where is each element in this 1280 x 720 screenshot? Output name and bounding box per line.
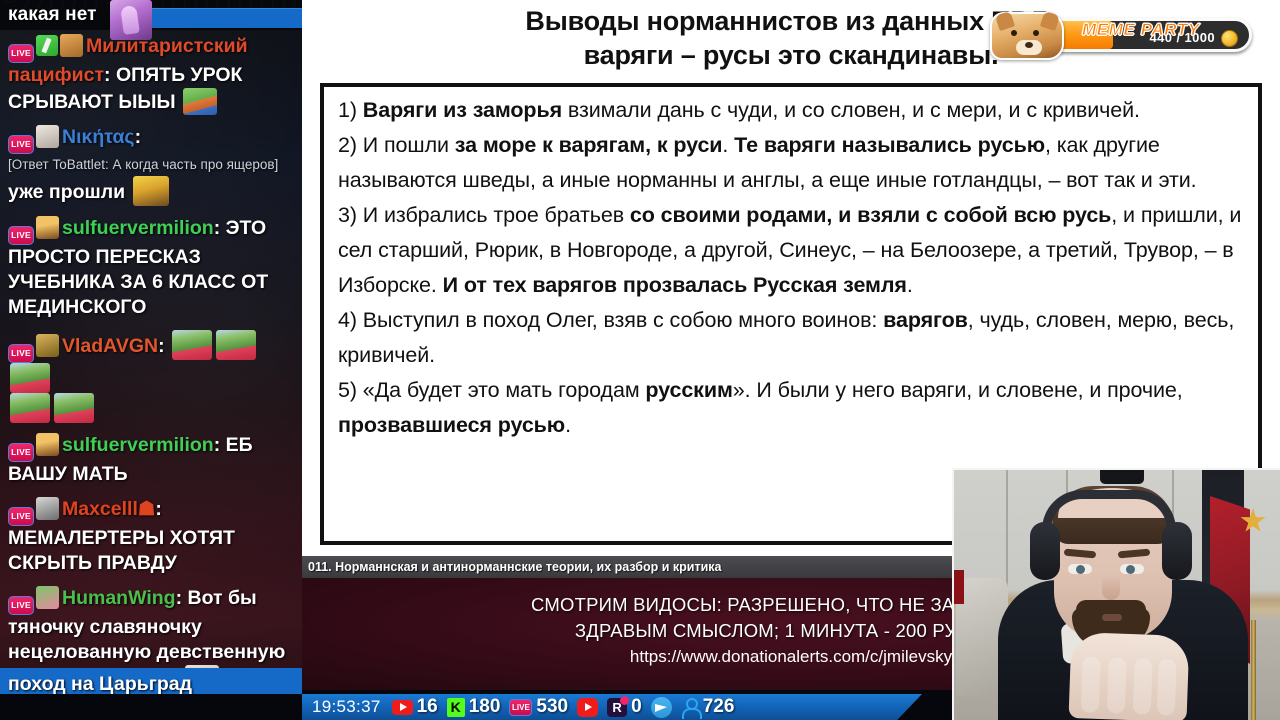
- face-avatar: [36, 125, 59, 148]
- slide-text-bold: Те варяги назывались русью: [734, 133, 1045, 157]
- finger: [1107, 657, 1127, 714]
- live-badge-icon: LIVE: [8, 443, 34, 462]
- red-object: [954, 570, 964, 604]
- chat-partial-bottom-message: поход на Царьград: [8, 673, 192, 696]
- slide-text-bold: Варяги из заморья: [363, 98, 562, 122]
- slide-title-line2: варяги – русы это скандинавы.: [584, 40, 999, 70]
- status-bar-inner: 19:53:37 16 K 180 LIVE 530 R 0: [302, 694, 922, 720]
- chat-colon: :: [104, 64, 111, 86]
- finger: [1133, 658, 1153, 715]
- turtle-emote-icon: [172, 330, 212, 360]
- burger-avatar: [36, 433, 59, 456]
- slide-text-normal: 5) «Да будет это мать городам: [338, 378, 645, 402]
- chat-panel[interactable]: какая нет LIVEМилитаристский пацифист: О…: [0, 0, 302, 720]
- king-avatar: [36, 334, 59, 357]
- chat-username[interactable]: sulfuervermilion: [62, 434, 214, 456]
- chat-message-list[interactable]: LIVEМилитаристский пацифист: ОПЯТЬ УРОК …: [0, 30, 302, 702]
- live-badge-icon: LIVE: [8, 507, 34, 526]
- stat-live: LIVE 530: [509, 696, 568, 718]
- doge-avatar: [60, 34, 83, 57]
- chat-partial-top-message: какая нет: [8, 4, 97, 26]
- live-badge-icon: LIVE: [8, 135, 34, 154]
- slide-text-normal: .: [565, 413, 571, 437]
- meme-party-label: MEME PARTY: [1082, 20, 1200, 40]
- youtube-icon: [392, 700, 413, 715]
- stat-telegram: [651, 697, 672, 718]
- slide-paragraph-2: 2) И пошли за море к варягам, к руси. Те…: [338, 128, 1244, 198]
- streamer-pupil-left: [1076, 565, 1085, 574]
- youtube-rounded-icon: [577, 698, 598, 717]
- stat-value: 530: [536, 696, 568, 718]
- stat-value: 726: [703, 696, 735, 718]
- burger-avatar: [36, 216, 59, 239]
- doge-eye-left: [1011, 30, 1017, 36]
- live-badge-icon: LIVE: [8, 226, 34, 245]
- stat-value: 180: [469, 696, 501, 718]
- streamer-nose: [1102, 576, 1120, 600]
- headphone-cup-left: [1030, 522, 1060, 580]
- chat-username[interactable]: Νικήτας: [62, 126, 135, 148]
- streamer-hands: [1069, 632, 1190, 720]
- live-badge-icon: LIVE: [8, 44, 34, 63]
- turtle-emote-icon: [216, 330, 256, 360]
- streamer-mouth: [1102, 614, 1122, 621]
- slide-text-normal: 2) И пошли: [338, 133, 455, 157]
- slide-paragraph-4: 4) Выступил в поход Олег, взяв с собою м…: [338, 303, 1244, 373]
- chat-colon: :: [214, 217, 221, 239]
- pepe-emote-icon: [183, 88, 217, 115]
- slide-text-bold: варягов: [883, 308, 968, 332]
- chat-message[interactable]: LIVEsulfuervermilion: ЕБ ВАШУ МАТЬ: [8, 433, 294, 487]
- slide-paragraph-3: 3) И избрались трое братьев со своими ро…: [338, 198, 1244, 303]
- live-icon: LIVE: [509, 699, 532, 716]
- slide-text-bold: со своими родами, и взяли с собой всю ру…: [630, 203, 1111, 227]
- turtle-emote-icon: [10, 393, 50, 423]
- stat-youtube-secondary: [577, 698, 598, 717]
- headphone-cup-right: [1162, 522, 1192, 580]
- live-badge-icon: LIVE: [8, 596, 34, 615]
- finger: [1157, 659, 1177, 716]
- live-badge-icon: LIVE: [8, 344, 34, 363]
- turtle-emote-icon: [10, 363, 50, 393]
- slide-text-normal: 1): [338, 98, 363, 122]
- chat-colon: :: [155, 498, 162, 520]
- headphone-band: [1042, 490, 1176, 530]
- chat-colon: :: [158, 335, 165, 357]
- chat-top-highlight-bar: [138, 8, 302, 28]
- chat-text: уже прошли: [8, 181, 125, 203]
- doge-icon: [990, 12, 1064, 60]
- stat-rutube: R 0: [607, 696, 642, 718]
- telegram-icon: [651, 697, 672, 718]
- stat-kick: K 180: [447, 696, 501, 718]
- stream-overlay: какая нет LIVEМилитаристский пацифист: О…: [0, 0, 1280, 720]
- chat-username[interactable]: VladAVGN: [62, 335, 158, 357]
- slide-title-line1: Выводы норманнистов из данных ПВЛ:: [525, 6, 1056, 36]
- stat-viewers: 726: [681, 696, 735, 718]
- slide-text-normal: взимали дань с чуди, и со словен, и с ме…: [562, 98, 1140, 122]
- chat-username[interactable]: HumanWing: [62, 587, 176, 609]
- gray-avatar: [36, 497, 59, 520]
- purple-emote-icon: [110, 0, 152, 40]
- chat-message[interactable]: LIVEVladAVGN:: [8, 330, 294, 423]
- chat-message[interactable]: LIVEΝικήτας: [Ответ ToBattlet: А когда ч…: [8, 125, 294, 206]
- pepe-avatar: [36, 586, 59, 609]
- chat-message[interactable]: LIVEMaxcelll☗: МЕМАЛЕРТЕРЫ ХОТЯТ СКРЫТЬ …: [8, 497, 294, 576]
- slide-text-normal: 3) И избрались трое братьев: [338, 203, 630, 227]
- chat-username[interactable]: Maxcelll☗: [62, 498, 155, 520]
- streamer-pupil-right: [1126, 565, 1135, 574]
- meme-party-widget: 440 / 1000 MEME PARTY: [990, 14, 1252, 58]
- doge-ear-right: [1040, 11, 1060, 31]
- green-sword-badge-icon: [36, 35, 58, 56]
- finger: [1081, 656, 1101, 713]
- doge-nose: [1025, 42, 1033, 48]
- stream-clock: 19:53:37: [312, 697, 381, 717]
- doge-eye-right: [1033, 30, 1039, 36]
- slide-text-normal: 4) Выступил в поход Олег, взяв с собою м…: [338, 308, 883, 332]
- stat-youtube: 16: [392, 696, 438, 718]
- kick-icon: K: [447, 698, 465, 717]
- rutube-icon: R: [607, 698, 627, 717]
- chat-reply-context: [Ответ ToBattlet: А когда часть про ящер…: [8, 156, 294, 173]
- slide-text-normal: .: [907, 273, 913, 297]
- chat-colon: :: [135, 126, 142, 148]
- chat-bottom-mask: [0, 694, 302, 720]
- slide-text-bold: русским: [645, 378, 732, 402]
- chat-message[interactable]: LIVEМилитаристский пацифист: ОПЯТЬ УРОК …: [8, 34, 294, 115]
- coin-icon: [1221, 30, 1238, 47]
- slide-text-bold: И от тех варягов прозвалась Русская земл…: [443, 273, 907, 297]
- doge-ear-left: [995, 11, 1015, 31]
- chat-message[interactable]: LIVEsulfuervermilion: ЭТО ПРОСТО ПЕРЕСКА…: [8, 216, 294, 320]
- chat-text: МЕМАЛЕРТЕРЫ ХОТЯТ СКРЫТЬ ПРАВДУ: [8, 527, 235, 574]
- stat-value: 16: [417, 696, 438, 718]
- slide-paragraph-5: 5) «Да будет это мать городам русским». …: [338, 373, 1244, 443]
- chat-colon: :: [176, 587, 183, 609]
- stat-value: 0: [631, 696, 642, 718]
- turtle-emote-icon: [54, 393, 94, 423]
- slide-text-bold: за море к варягам, к руси: [455, 133, 723, 157]
- chat-colon: :: [214, 434, 221, 456]
- slide-text-bold: прозвавшиеся русью: [338, 413, 565, 437]
- slide-text-normal: .: [722, 133, 734, 157]
- webcam-feed[interactable]: [952, 468, 1280, 720]
- flag-pole: [1251, 620, 1256, 720]
- squirrel-emote-icon: [133, 176, 169, 206]
- chat-username[interactable]: sulfuervermilion: [62, 217, 214, 239]
- camera-device: [1100, 470, 1144, 484]
- slide-text-normal: ». И были у него варяги, и словене, и пр…: [733, 378, 1183, 402]
- viewers-icon: [681, 697, 699, 717]
- slide-paragraph-1: 1) Варяги из заморья взимали дань с чуди…: [338, 93, 1244, 128]
